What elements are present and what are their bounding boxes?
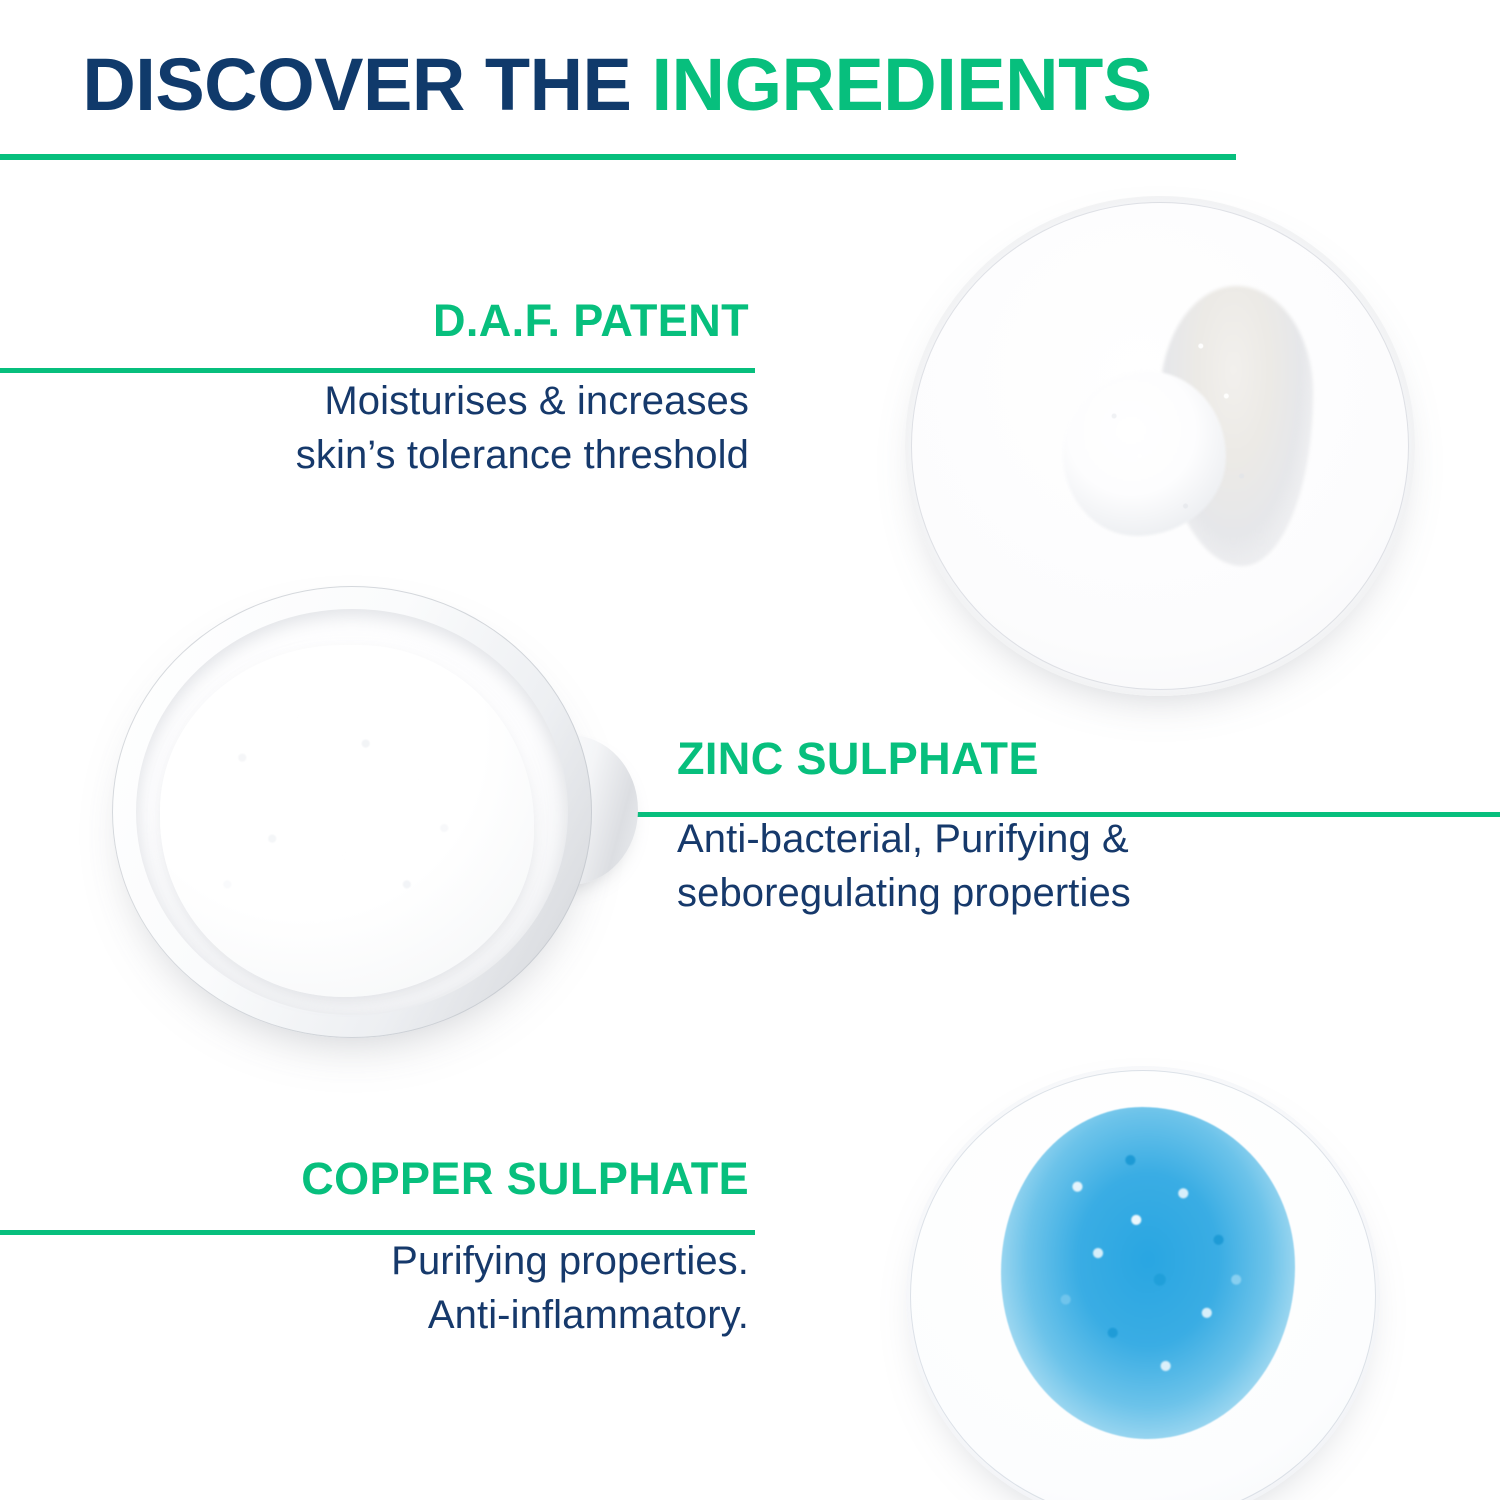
ingredient-section-zinc: ZINC SULPHATE Anti-bacterial, Purifying … <box>637 734 1500 920</box>
ingredient-section-daf: D.A.F. PATENT Moisturises & increases sk… <box>0 296 755 482</box>
ingredient-heading-zinc: ZINC SULPHATE <box>637 734 1500 784</box>
ingredient-underline-daf <box>0 368 755 373</box>
ingredient-description-daf: Moisturises & increases skin’s tolerance… <box>0 374 755 482</box>
page-title-block: DISCOVER THE INGREDIENTS <box>0 46 1240 124</box>
ingredient-heading-copper: COPPER SULPHATE <box>0 1154 755 1204</box>
page-title: DISCOVER THE INGREDIENTS <box>0 46 1240 124</box>
ingredient-heading-daf: D.A.F. PATENT <box>0 296 755 346</box>
crystal-speckles <box>905 196 1415 696</box>
ingredient-section-copper: COPPER SULPHATE Purifying properties. An… <box>0 1154 755 1342</box>
page-title-part-accent: INGREDIENTS <box>651 43 1151 126</box>
ingredient-underline-copper <box>0 1230 755 1235</box>
page-title-underline <box>0 154 1236 160</box>
ingredients-infographic: DISCOVER THE INGREDIENTS D.A.F. PATENT M… <box>0 0 1500 1500</box>
page-title-part-primary: DISCOVER THE <box>82 43 651 126</box>
white-powder-mound <box>160 645 534 998</box>
ingredient-image-daf <box>905 196 1415 696</box>
blue-crystal-grains <box>1001 1107 1295 1438</box>
blue-crystal-mound <box>1001 1107 1295 1438</box>
ingredient-underline-zinc <box>637 812 1500 817</box>
ingredient-image-zinc <box>112 586 592 1038</box>
ingredient-image-copper <box>906 1066 1380 1500</box>
ingredient-description-zinc: Anti-bacterial, Purifying & seboregulati… <box>637 812 1500 920</box>
ingredient-description-copper: Purifying properties. Anti-inflammatory. <box>0 1234 755 1342</box>
powder-grains <box>160 645 534 998</box>
